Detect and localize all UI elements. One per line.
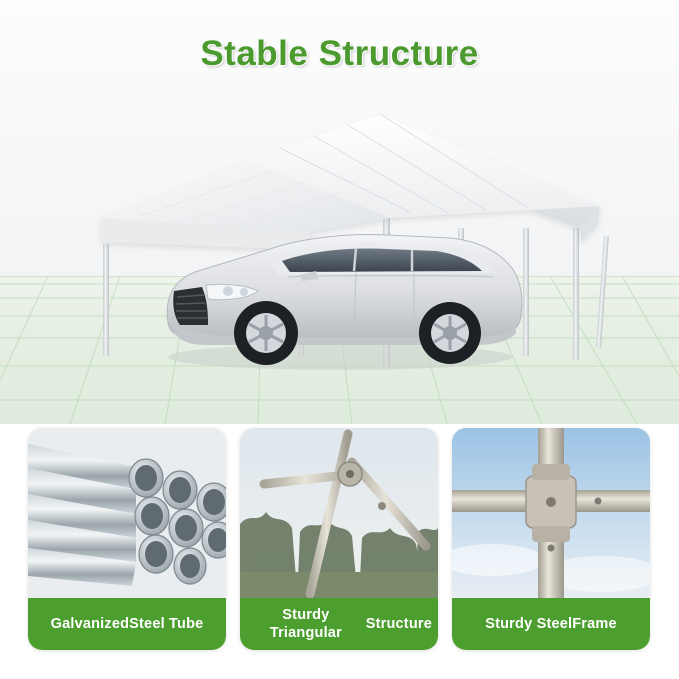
feature-card-row: Galvanized Steel Tube (0, 424, 679, 679)
steel-tube-bundle-illustration (28, 428, 226, 598)
feature-card-sturdy-steel-frame[interactable]: Sturdy Steel Frame (452, 428, 650, 650)
cross-joint-connector-illustration (452, 428, 650, 598)
sturdy-triangular-structure-label-line1: Sturdy Triangular (246, 606, 366, 642)
galvanized-steel-tube-photo (28, 428, 226, 598)
product-feature-graphic: Stable Structure (0, 0, 679, 679)
galvanized-steel-tube-label-line1: Galvanized (51, 615, 130, 633)
sturdy-steel-frame-label-line2: Frame (572, 615, 617, 633)
silver-suv (150, 205, 530, 375)
sturdy-triangular-structure-label-line2: Structure (366, 615, 432, 633)
triangular-structure-photo (240, 428, 438, 598)
galvanized-steel-tube-label: Galvanized Steel Tube (28, 598, 226, 650)
triangular-brace-illustration (240, 428, 438, 598)
steel-frame-photo (452, 428, 650, 598)
feature-card-sturdy-triangular-structure[interactable]: Sturdy Triangular Structure (240, 428, 438, 650)
feature-card-galvanized-steel-tube[interactable]: Galvanized Steel Tube (28, 428, 226, 650)
sturdy-triangular-structure-label: Sturdy Triangular Structure (240, 598, 438, 650)
sturdy-steel-frame-label: Sturdy Steel Frame (452, 598, 650, 650)
page-title: Stable Structure (0, 34, 679, 74)
sturdy-steel-frame-label-line1: Sturdy Steel (485, 615, 572, 633)
galvanized-steel-tube-label-line2: Steel Tube (129, 615, 203, 633)
